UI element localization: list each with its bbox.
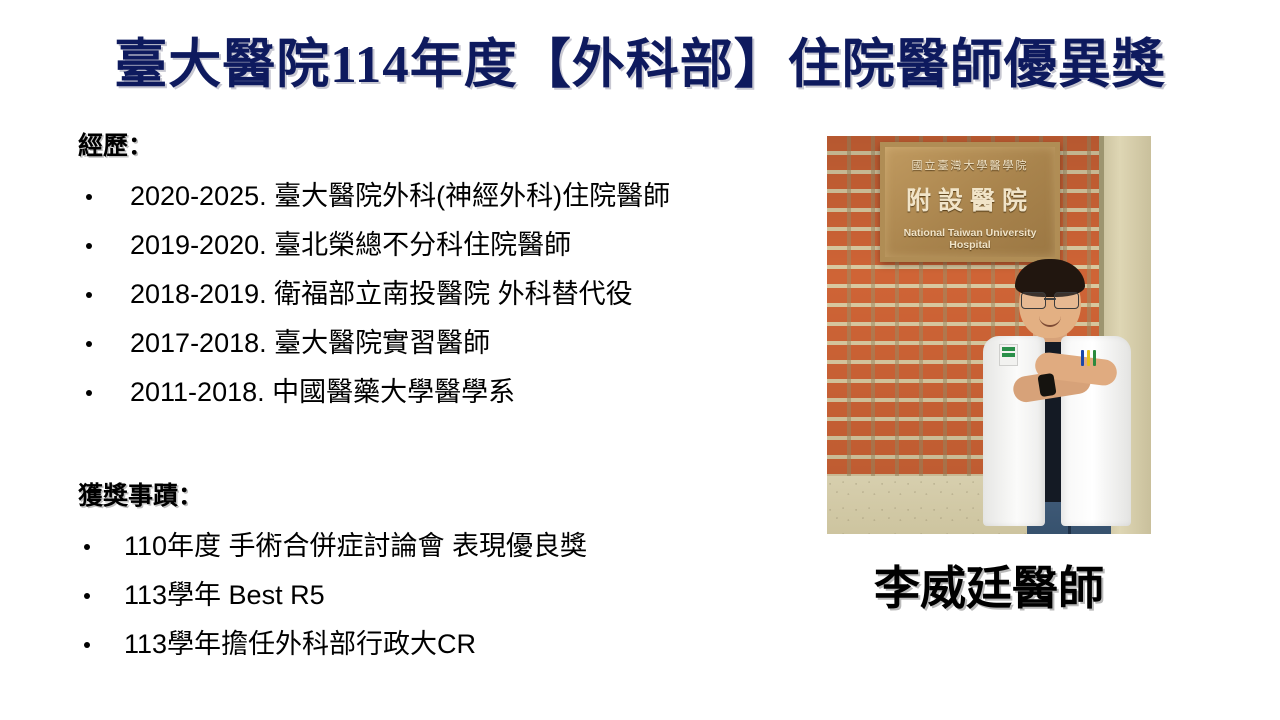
list-item-label: 2019-2020. 臺北榮總不分科住院醫師 [130, 230, 571, 260]
list-item-label: 110年度 手術合併症討論會 表現優良獎 [124, 531, 587, 561]
bullet-icon [86, 390, 92, 396]
plaque-line-3: National Taiwan University Hospital [885, 227, 1055, 251]
list-item: 2011-2018. 中國醫藥大學醫學系 [0, 368, 670, 417]
list-item-label: 113學年擔任外科部行政大CR [124, 629, 476, 659]
person-name-caption: 李威廷醫師 [827, 552, 1151, 618]
plaque-line-1: 國立臺灣大學醫學院 [885, 157, 1055, 173]
list-item: 2020-2025. 臺大醫院外科(神經外科)住院醫師 [0, 172, 670, 221]
pocket-pens [1081, 350, 1101, 366]
photo-scene: 國立臺灣大學醫學院 附設醫院 National Taiwan Universit… [827, 136, 1151, 534]
list-item: 113學年擔任外科部行政大CR [0, 620, 587, 669]
bullet-icon [86, 194, 92, 200]
glasses-icon [1021, 292, 1079, 307]
list-item: 2017-2018. 臺大醫院實習醫師 [0, 319, 670, 368]
plaque-line-2: 附設醫院 [885, 181, 1055, 217]
bullet-icon [86, 341, 92, 347]
experience-heading: 經歷： [78, 126, 153, 162]
wristwatch [1037, 373, 1056, 397]
content-column: 經歷： 2020-2025. 臺大醫院外科(神經外科)住院醫師 2019-202… [0, 0, 800, 720]
list-item-label: 2018-2019. 衛福部立南投醫院 外科替代役 [130, 279, 633, 309]
bullet-icon [84, 544, 90, 550]
doctor-photo: 國立臺灣大學醫學院 附設醫院 National Taiwan Universit… [827, 136, 1151, 534]
awards-heading: 獲獎事蹟： [78, 476, 203, 512]
id-badge [999, 344, 1018, 366]
experience-list: 2020-2025. 臺大醫院外科(神經外科)住院醫師 2019-2020. 臺… [0, 172, 670, 417]
bullet-icon [84, 593, 90, 599]
hospital-plaque: 國立臺灣大學醫學院 附設醫院 National Taiwan Universit… [880, 142, 1060, 262]
list-item-label: 2011-2018. 中國醫藥大學醫學系 [130, 377, 515, 407]
bullet-icon [86, 292, 92, 298]
list-item-label: 113學年 Best R5 [124, 580, 325, 610]
list-item: 113學年 Best R5 [0, 571, 587, 620]
list-item-label: 2020-2025. 臺大醫院外科(神經外科)住院醫師 [130, 181, 670, 211]
list-item: 2019-2020. 臺北榮總不分科住院醫師 [0, 221, 670, 270]
bullet-icon [84, 642, 90, 648]
awards-list: 110年度 手術合併症討論會 表現優良獎 113學年 Best R5 113學年… [0, 522, 587, 669]
list-item: 2018-2019. 衛福部立南投醫院 外科替代役 [0, 270, 670, 319]
bullet-icon [86, 243, 92, 249]
person-figure [977, 264, 1151, 534]
list-item: 110年度 手術合併症討論會 表現優良獎 [0, 522, 587, 571]
list-item-label: 2017-2018. 臺大醫院實習醫師 [130, 328, 490, 358]
